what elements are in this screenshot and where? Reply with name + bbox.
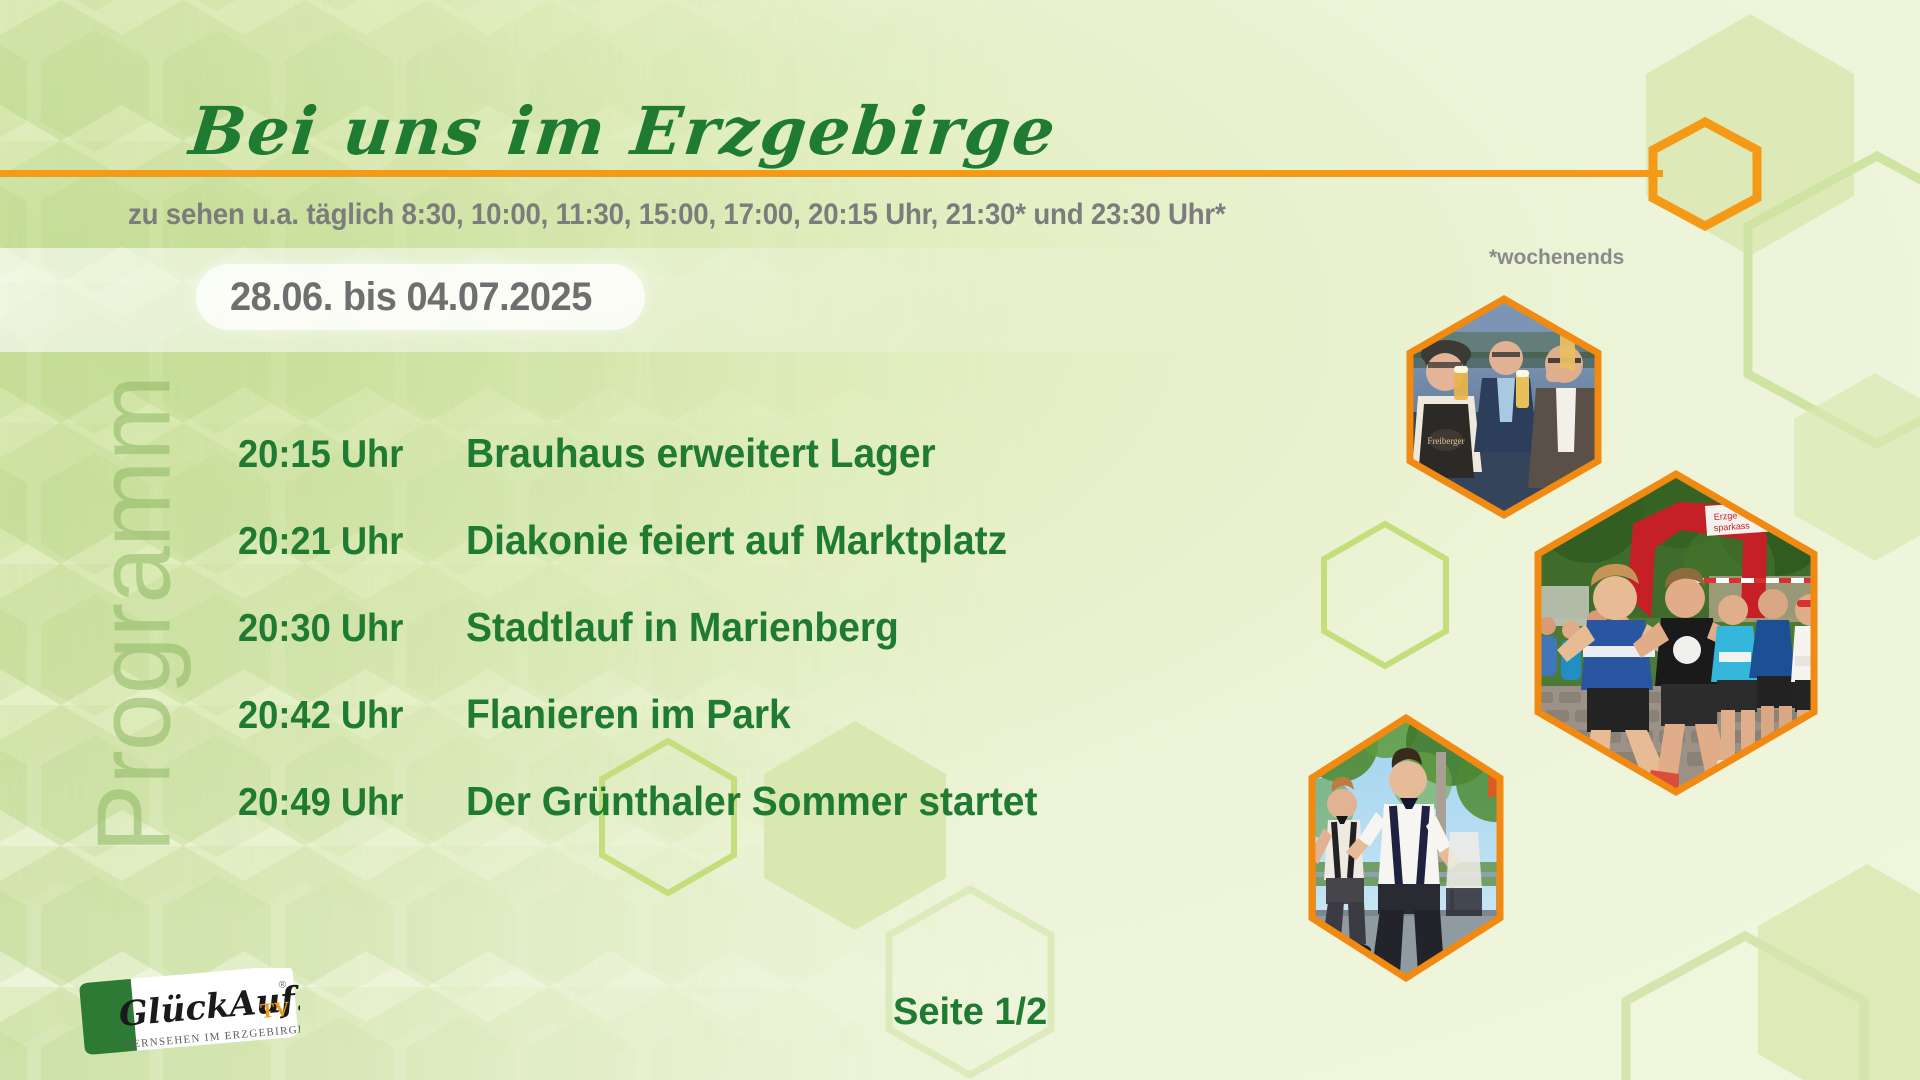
- program-row: 20:30 Uhr Stadtlauf in Marienberg: [238, 604, 1238, 691]
- decorative-hexagon-outline-midright: [1320, 520, 1450, 670]
- program-time: 20:30 Uhr: [238, 607, 450, 651]
- program-time: 20:21 Uhr: [238, 520, 450, 564]
- date-range-text: 28.06. bis 04.07.2025: [230, 275, 592, 320]
- svg-text:Freiberger: Freiberger: [1427, 436, 1464, 446]
- decorative-hexagon-outline-bottomright: [1620, 930, 1870, 1080]
- program-time: 20:49 Uhr: [238, 781, 450, 825]
- program-slide: Programm Bei uns im Erzgebirge zu sehen …: [0, 0, 1920, 1080]
- page-number: Seite 1/2: [893, 991, 1047, 1034]
- logo-glueckauf-tv[interactable]: GlückAuf! TV ® FERNSEHEN IM ERZGEBIRGE: [78, 968, 300, 1060]
- program-row: 20:21 Uhr Diakonie feiert auf Marktplatz: [238, 517, 1238, 604]
- program-title: Stadtlauf in Marienberg: [466, 604, 899, 651]
- logo-tv-text: TV: [259, 997, 290, 1023]
- program-list: 20:15 Uhr Brauhaus erweitert Lager 20:21…: [238, 430, 1238, 865]
- date-range-badge: 28.06. bis 04.07.2025: [196, 264, 645, 330]
- program-title: Der Grünthaler Sommer startet: [466, 778, 1037, 825]
- program-time: 20:15 Uhr: [238, 433, 450, 477]
- program-row: 20:42 Uhr Flanieren im Park: [238, 691, 1238, 778]
- svg-text:Erzge: Erzge: [1713, 510, 1737, 522]
- program-title: Diakonie feiert auf Marktplatz: [466, 517, 1007, 564]
- broadcast-times: zu sehen u.a. täglich 8:30, 10:00, 11:30…: [128, 198, 1226, 232]
- program-row: 20:15 Uhr Brauhaus erweitert Lager: [238, 430, 1238, 517]
- program-title: Brauhaus erweitert Lager: [466, 430, 936, 477]
- orange-divider-line: [0, 170, 1663, 177]
- page-title: Bei uns im Erzgebirge: [186, 92, 1061, 170]
- decorative-hexagon-outline-bottomcenter: [885, 885, 1055, 1080]
- program-title: Flanieren im Park: [466, 691, 791, 738]
- program-time: 20:42 Uhr: [238, 694, 450, 738]
- weekend-footnote: *wochenends: [1489, 246, 1624, 270]
- orange-hexagon-endcap: [1645, 117, 1765, 231]
- photo-tanz: [1300, 712, 1512, 987]
- photo-stadtlauf: Erzge sparkass: [1529, 468, 1824, 798]
- program-row: 20:49 Uhr Der Grünthaler Sommer startet: [238, 778, 1238, 865]
